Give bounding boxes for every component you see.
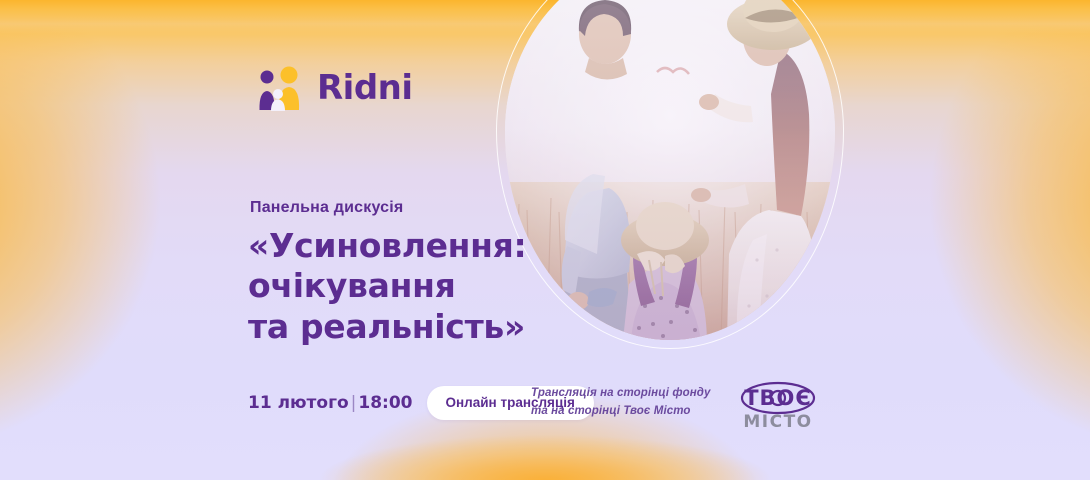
- page-title: «Усиновлення: очікування та реальність»: [248, 226, 548, 347]
- event-time: 18:00: [358, 393, 412, 413]
- stream-note-line-2: та на сторінці Твоє Місто: [531, 403, 710, 421]
- stream-note-line-1: Трансляція на сторінці фонду: [531, 385, 710, 403]
- photo-oval: [505, 0, 835, 340]
- event-date: 11 лютого: [248, 393, 349, 413]
- headline-line-1: «Усиновлення:: [248, 226, 548, 266]
- ridni-logo[interactable]: Ridni: [258, 64, 413, 112]
- headline-line-3: та реальність»: [248, 307, 548, 347]
- family-figures-icon: [258, 64, 310, 112]
- ridni-wordmark: Ridni: [317, 71, 413, 105]
- tvoe-misto-logo[interactable]: ТВОЄ МІСТО: [726, 376, 830, 432]
- partner-name-top: ТВОЄ: [744, 386, 812, 410]
- event-banner: Ridni Панельна дискусія «Усиновлення: оч…: [0, 0, 1090, 480]
- headline-line-2: очікування: [248, 266, 548, 306]
- event-datetime: 11 лютого|18:00: [248, 393, 413, 413]
- stream-note: Трансляція на сторінці фонду та на сторі…: [531, 385, 710, 421]
- kicker-text: Панельна дискусія: [250, 199, 403, 217]
- partner-name-bottom: МІСТО: [743, 412, 812, 432]
- datetime-separator: |: [349, 393, 359, 413]
